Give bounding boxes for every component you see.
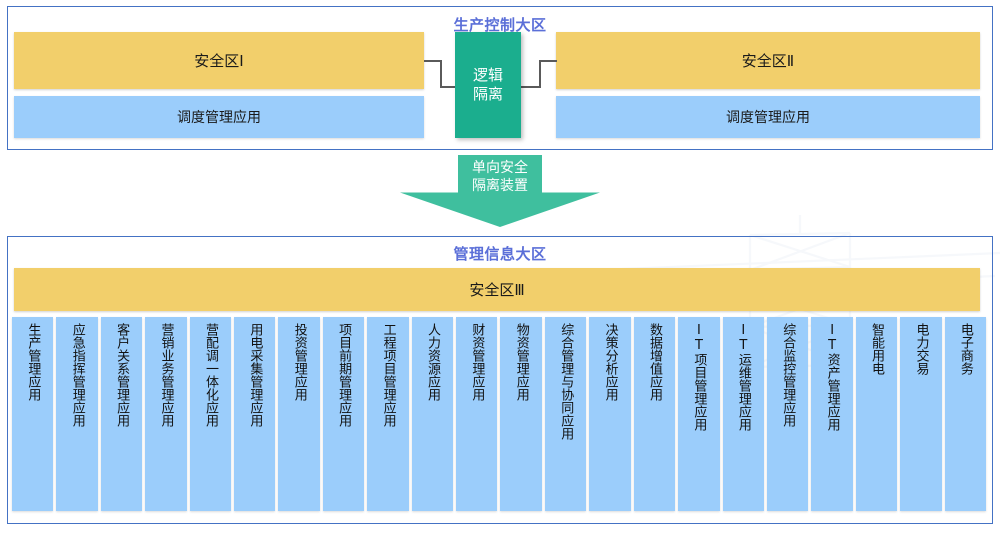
dispatch-management-app-right-label: 调度管理应用 bbox=[726, 107, 810, 127]
application-column[interactable]: 营配调一体化应用 bbox=[190, 317, 231, 511]
connector-right-segment-h-top bbox=[539, 60, 557, 62]
logical-isolation-label-line2: 隔离 bbox=[473, 85, 503, 104]
application-column-label: 智能用电 bbox=[870, 323, 883, 375]
application-column-label: IT运维管理应用 bbox=[737, 323, 750, 431]
application-column[interactable]: 应急指挥管理应用 bbox=[56, 317, 97, 511]
application-column[interactable]: IT资产管理应用 bbox=[811, 317, 852, 511]
dispatch-management-app-left-box[interactable]: 调度管理应用 bbox=[14, 96, 424, 138]
security-zone-2-label: 安全区Ⅱ bbox=[742, 50, 794, 71]
application-column[interactable]: 人力资源应用 bbox=[412, 317, 453, 511]
application-column[interactable]: 电力交易 bbox=[900, 317, 941, 511]
application-column-label: 物资管理应用 bbox=[515, 323, 528, 401]
application-column-label: IT资产管理应用 bbox=[825, 323, 838, 431]
application-column[interactable]: 营销业务管理应用 bbox=[145, 317, 186, 511]
application-column-label: 决策分析应用 bbox=[603, 323, 616, 401]
security-zone-3-label: 安全区Ⅲ bbox=[469, 279, 524, 300]
application-column-label: 工程项目管理应用 bbox=[381, 323, 394, 427]
application-column-label: 用电采集管理应用 bbox=[248, 323, 261, 427]
application-column-label: 综合管理与协同应用 bbox=[559, 323, 572, 440]
application-column-label: 电力交易 bbox=[914, 323, 927, 375]
application-column-label: 电子商务 bbox=[959, 323, 972, 375]
application-column[interactable]: 智能用电 bbox=[856, 317, 897, 511]
security-zone-2-box[interactable]: 安全区Ⅱ bbox=[556, 32, 980, 89]
connector-left-segment-v bbox=[440, 60, 442, 88]
application-column-label: 数据增值应用 bbox=[648, 323, 661, 401]
logical-isolation-box[interactable]: 逻辑 隔离 bbox=[455, 32, 521, 138]
security-zone-1-box[interactable]: 安全区Ⅰ bbox=[14, 32, 424, 89]
unidirectional-isolation-arrow[interactable]: 单向安全 隔离装置 bbox=[400, 155, 600, 227]
application-column-label: 营销业务管理应用 bbox=[159, 323, 172, 427]
dispatch-management-app-right-box[interactable]: 调度管理应用 bbox=[556, 96, 980, 138]
connector-right-segment-h-bottom bbox=[521, 86, 541, 88]
application-column-label: 综合监控管理应用 bbox=[781, 323, 794, 427]
application-column[interactable]: 生产管理应用 bbox=[12, 317, 53, 511]
application-column[interactable]: 工程项目管理应用 bbox=[367, 317, 408, 511]
security-zone-3-box[interactable]: 安全区Ⅲ bbox=[14, 268, 980, 311]
application-column[interactable]: 客户关系管理应用 bbox=[101, 317, 142, 511]
application-column-label: 项目前期管理应用 bbox=[337, 323, 350, 427]
application-column[interactable]: IT运维管理应用 bbox=[723, 317, 764, 511]
unidirectional-isolation-label-line2: 隔离装置 bbox=[400, 178, 600, 196]
application-column-label: 生产管理应用 bbox=[26, 323, 39, 401]
management-information-zone-title: 管理信息大区 bbox=[8, 243, 992, 264]
application-column-label: 客户关系管理应用 bbox=[115, 323, 128, 427]
security-zone-1-label: 安全区Ⅰ bbox=[194, 50, 243, 71]
application-column-label: IT项目管理应用 bbox=[692, 323, 705, 431]
application-column[interactable]: 项目前期管理应用 bbox=[323, 317, 364, 511]
application-column[interactable]: 数据增值应用 bbox=[634, 317, 675, 511]
connector-right-segment-v bbox=[539, 60, 541, 88]
application-column-label: 投资管理应用 bbox=[293, 323, 306, 401]
application-column-label: 财资管理应用 bbox=[470, 323, 483, 401]
logical-isolation-label-line1: 逻辑 bbox=[473, 66, 503, 85]
application-column-label: 人力资源应用 bbox=[426, 323, 439, 401]
unidirectional-isolation-label-line1: 单向安全 bbox=[400, 160, 600, 178]
application-column-list: 生产管理应用应急指挥管理应用客户关系管理应用营销业务管理应用营配调一体化应用用电… bbox=[12, 317, 986, 511]
application-column[interactable]: 综合管理与协同应用 bbox=[545, 317, 586, 511]
application-column[interactable]: 决策分析应用 bbox=[589, 317, 630, 511]
application-column[interactable]: 电子商务 bbox=[945, 317, 986, 511]
application-column-label: 应急指挥管理应用 bbox=[70, 323, 83, 427]
application-column[interactable]: 财资管理应用 bbox=[456, 317, 497, 511]
application-column[interactable]: 物资管理应用 bbox=[500, 317, 541, 511]
dispatch-management-app-left-label: 调度管理应用 bbox=[177, 107, 261, 127]
application-column[interactable]: 投资管理应用 bbox=[278, 317, 319, 511]
connector-left-segment-h-top bbox=[424, 60, 442, 62]
application-column[interactable]: 用电采集管理应用 bbox=[234, 317, 275, 511]
unidirectional-isolation-label: 单向安全 隔离装置 bbox=[400, 160, 600, 195]
connector-left bbox=[424, 60, 456, 90]
connector-left-segment-h-bottom bbox=[440, 86, 456, 88]
connector-right bbox=[521, 60, 557, 90]
application-column[interactable]: 综合监控管理应用 bbox=[767, 317, 808, 511]
application-column[interactable]: IT项目管理应用 bbox=[678, 317, 719, 511]
application-column-label: 营配调一体化应用 bbox=[204, 323, 217, 427]
